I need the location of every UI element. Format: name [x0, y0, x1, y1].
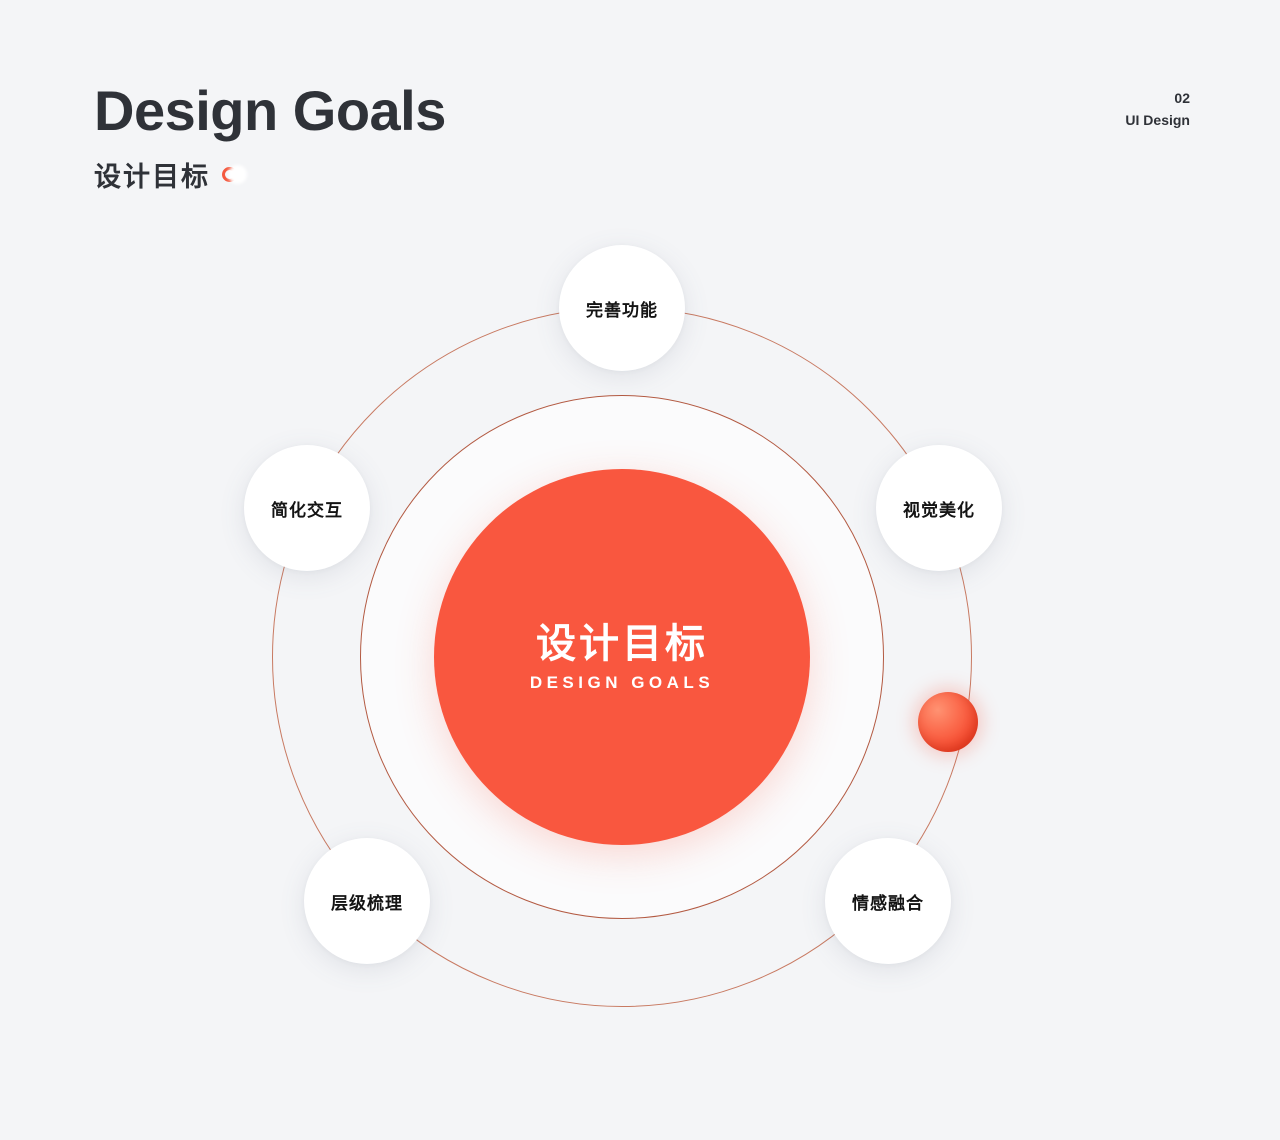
node-top-label: 完善功能 — [586, 296, 658, 321]
node-upper-left[interactable]: 简化交互 — [244, 445, 370, 571]
node-upper-right-label: 视觉美化 — [903, 496, 975, 521]
node-lower-left-label: 层级梳理 — [331, 889, 403, 914]
orbiting-sphere-icon — [918, 692, 978, 752]
slide-canvas: Design Goals 设计目标 02 UI Design 设计目标 DESI… — [0, 0, 1280, 1140]
core-circle: 设计目标 DESIGN GOALS — [434, 469, 810, 845]
orbit-diagram: 设计目标 DESIGN GOALS 完善功能 简化交互 视觉美化 层级梳理 情感… — [0, 0, 1280, 1140]
core-label-en: DESIGN GOALS — [530, 673, 714, 693]
node-lower-right-label: 情感融合 — [852, 889, 924, 914]
core-label-cn: 设计目标 — [536, 622, 708, 666]
node-upper-left-label: 简化交互 — [271, 496, 343, 521]
node-top[interactable]: 完善功能 — [559, 245, 685, 371]
node-upper-right[interactable]: 视觉美化 — [876, 445, 1002, 571]
node-lower-left[interactable]: 层级梳理 — [304, 838, 430, 964]
node-lower-right[interactable]: 情感融合 — [825, 838, 951, 964]
